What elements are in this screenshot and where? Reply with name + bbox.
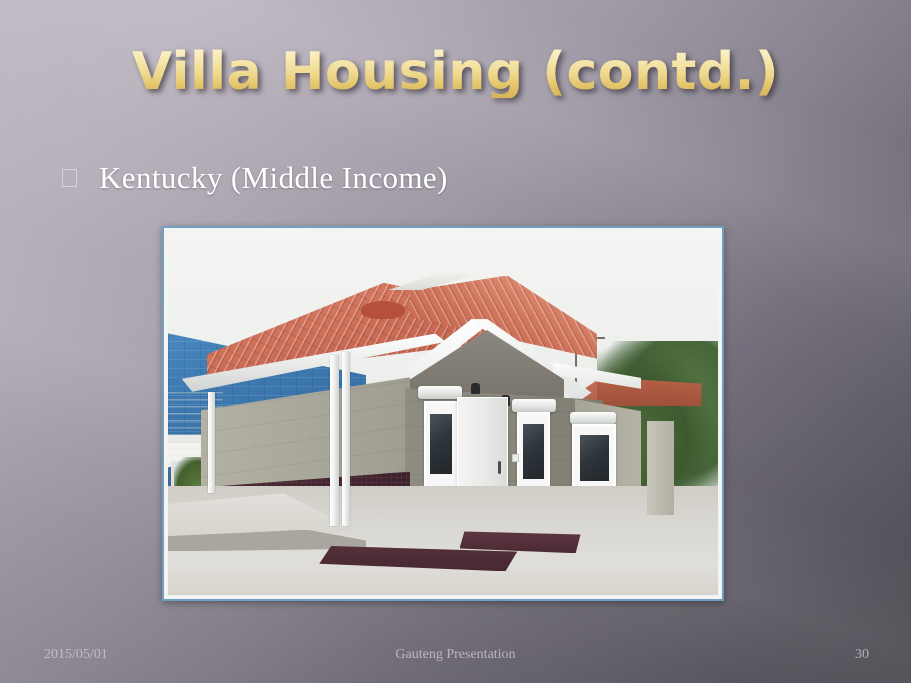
window-glass [523, 424, 544, 479]
footer-page-number: 30 [855, 647, 869, 663]
door-side-plate [512, 454, 519, 462]
window-3 [572, 424, 616, 491]
window-2 [517, 412, 550, 492]
gate-post [647, 421, 675, 515]
window-awning-2 [512, 399, 556, 412]
bullet-item-label: Kentucky (Middle Income) [99, 160, 448, 196]
window-glass [580, 435, 609, 480]
slide-footer: 2015/05/01 Gauteng Presentation 30 [0, 647, 911, 671]
villa-house-photo [168, 232, 718, 595]
presentation-slide: Villa Housing (contd.) Kentucky (Middle … [0, 0, 911, 683]
footer-title: Gauteng Presentation [0, 647, 911, 663]
door-handle [498, 461, 501, 474]
downpipe-2 [342, 352, 350, 526]
window-glass [430, 414, 452, 474]
window-awning-3 [570, 412, 617, 424]
square-bullet-icon [62, 169, 77, 187]
bullet-list-item: Kentucky (Middle Income) [62, 160, 448, 196]
window-1 [424, 401, 458, 488]
wall-lamp-1 [471, 383, 480, 394]
downpipe-1 [330, 355, 338, 526]
downpipe-3 [208, 392, 215, 494]
window-awning-1 [418, 386, 462, 399]
photo-frame [162, 226, 724, 601]
slide-title: Villa Housing (contd.) [0, 46, 911, 98]
roof-ridge-finial [361, 301, 405, 319]
